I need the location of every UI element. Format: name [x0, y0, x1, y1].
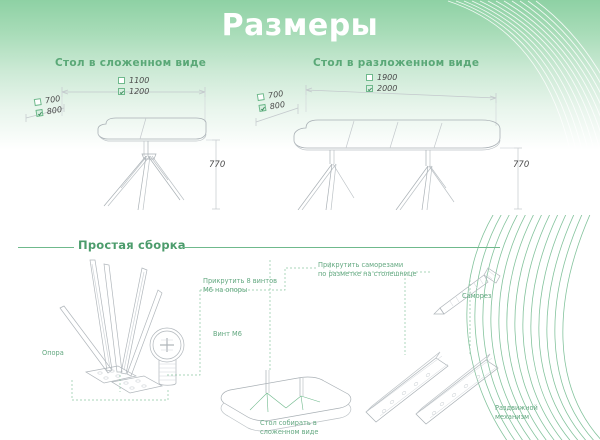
checkbox-checked-icon[interactable] [258, 104, 266, 112]
screw-note-line1: Прикрутить саморезами [318, 261, 403, 269]
option-label: 800 [269, 100, 286, 111]
option-row[interactable]: 1900 [366, 72, 397, 83]
checkbox-unchecked-icon[interactable] [118, 77, 125, 84]
divider-left [18, 247, 74, 248]
folded-height-value: 770 [209, 160, 225, 170]
checkbox-checked-icon[interactable] [118, 88, 125, 95]
fold-note-line2: сложенном виде [260, 428, 318, 436]
label-bolt-note: Прикрутить 8 винтов М6 на опоры [203, 277, 277, 295]
bolt-note-line1: Прикрутить 8 винтов [203, 277, 277, 285]
option-row[interactable]: 2000 [366, 83, 397, 94]
section-heading-unfolded: Стол в разложенном виде [313, 57, 479, 69]
screw-note-line2: по разметке на столешнице [318, 270, 417, 278]
assembly-section-header: Простая сборка [0, 238, 600, 256]
folded-depth-options: 700 800 [33, 93, 62, 119]
option-label: 1900 [377, 73, 397, 82]
checkbox-unchecked-icon[interactable] [34, 98, 42, 106]
divider-right [182, 247, 500, 248]
label-bolt: Винт М6 [213, 330, 242, 339]
poster-page: Размеры Стол в сложенном виде Стол в раз… [0, 0, 600, 440]
fold-note-line1: Стол собирать в [260, 419, 317, 427]
page-title: Размеры [0, 8, 600, 43]
unfolded-height-value: 770 [513, 160, 529, 170]
label-screw: Саморез [462, 292, 491, 301]
option-label: 1100 [129, 76, 149, 85]
option-label: 1200 [129, 87, 149, 96]
checkbox-checked-icon[interactable] [366, 85, 373, 92]
bolt-note-line2: М6 на опоры [203, 286, 247, 294]
unfolded-width-options: 1900 2000 [366, 72, 397, 94]
option-label: 800 [46, 105, 63, 116]
label-mechanism: Раздвижной механизм [495, 404, 538, 422]
label-leg: Опора [42, 349, 64, 358]
mechanism-line2: механизм [495, 413, 529, 421]
label-screw-note: Прикрутить саморезами по разметке на сто… [318, 261, 417, 279]
mechanism-line1: Раздвижной [495, 404, 538, 412]
checkbox-checked-icon[interactable] [35, 109, 43, 117]
folded-width-options: 1100 1200 [118, 75, 149, 97]
checkbox-unchecked-icon[interactable] [257, 93, 265, 101]
checkbox-unchecked-icon[interactable] [366, 74, 373, 81]
option-row[interactable]: 1100 [118, 75, 149, 86]
section-heading-folded: Стол в сложенном виде [55, 57, 206, 69]
label-fold-note: Стол собирать в сложенном виде [260, 419, 318, 437]
assembly-heading: Простая сборка [78, 238, 186, 252]
option-row[interactable]: 1200 [118, 86, 149, 97]
option-label: 2000 [377, 84, 397, 93]
unfolded-depth-options: 700 800 [256, 88, 285, 114]
